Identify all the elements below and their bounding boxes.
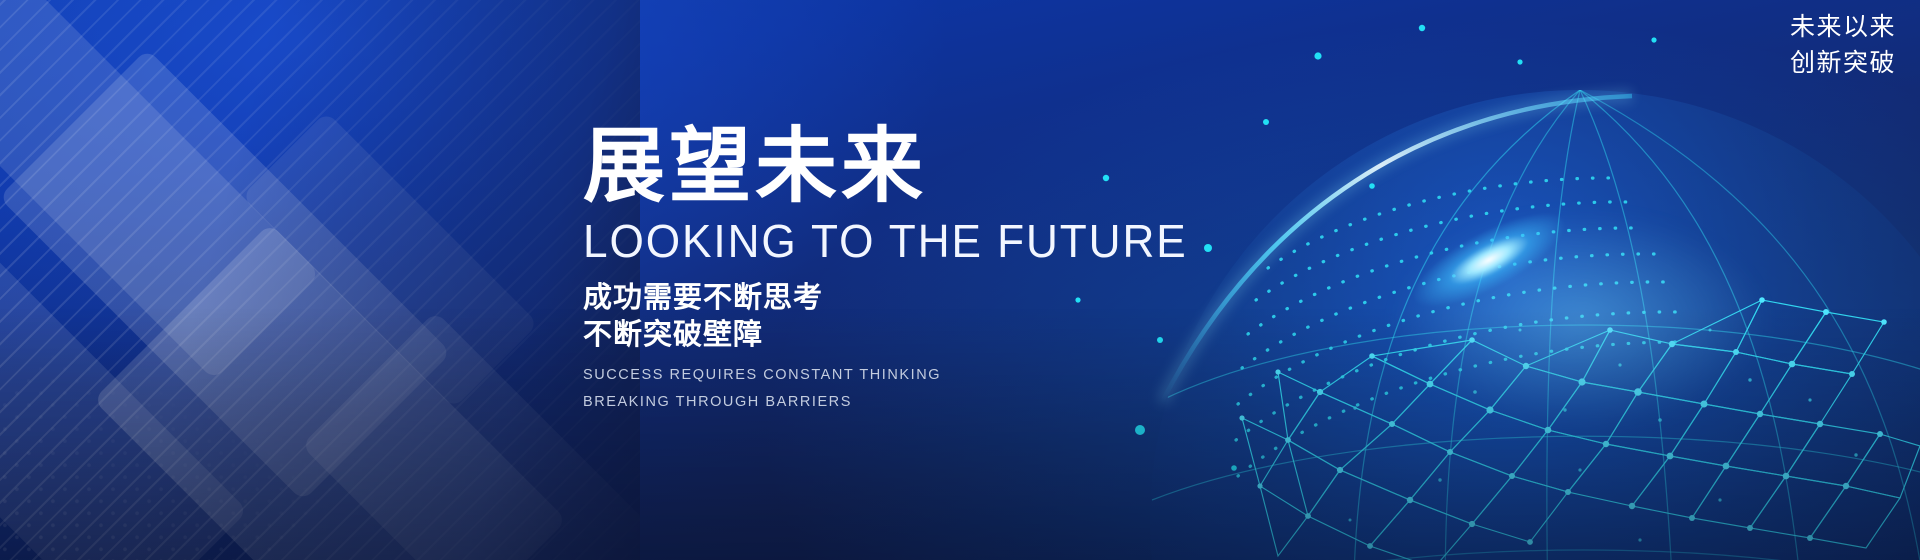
caption-en-line2: BREAKING THROUGH BARRIERS — [583, 389, 1283, 416]
corner-slogan-line2: 创新突破 — [1790, 46, 1896, 82]
corner-slogan: 未来以来 创新突破 — [1790, 10, 1896, 81]
page-subtitle-en: LOOKING TO THE FUTURE — [583, 218, 1255, 264]
headline-block: 展望未来 LOOKING TO THE FUTURE 成功需要不断思考 不断突破… — [583, 126, 1283, 416]
caption-en-line1: SUCCESS REQUIRES CONSTANT THINKING — [583, 362, 1283, 389]
banner-root: 未来以来 创新突破 展望未来 LOOKING TO THE FUTURE 成功需… — [0, 0, 1920, 560]
tagline-cn-line1: 成功需要不断思考 — [583, 280, 1283, 317]
tagline-cn-line2: 不断突破壁障 — [583, 317, 1283, 354]
corner-slogan-line1: 未来以来 — [1790, 10, 1896, 46]
page-title: 展望未来 — [583, 126, 1283, 208]
